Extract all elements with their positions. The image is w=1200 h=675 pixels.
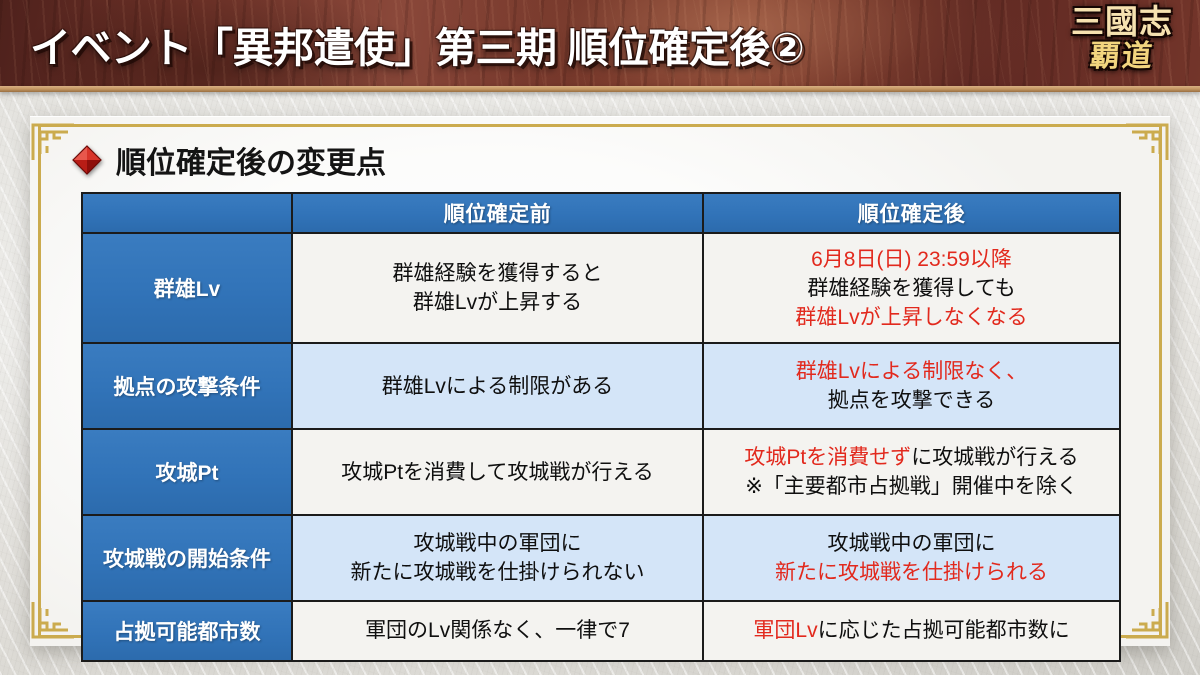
page-title: イベント「異邦遣使」第三期 順位確定後② bbox=[30, 14, 804, 74]
cell-before: 攻城戦中の軍団に 新たに攻城戦を仕掛けられない bbox=[292, 515, 703, 601]
table-row: 群雄Lv 群雄経験を獲得すると 群雄Lvが上昇する 6月8日(日) 23:59以… bbox=[82, 233, 1120, 343]
cell-line: 群雄Lvによる制限なく、 bbox=[712, 357, 1111, 386]
row-label: 攻城戦の開始条件 bbox=[83, 543, 291, 573]
header-cell-before: 順位確定前 bbox=[292, 193, 703, 233]
header-cell-blank bbox=[82, 193, 292, 233]
game-logo-line2: 覇道 bbox=[1055, 40, 1190, 73]
table-header-row: 順位確定前 順位確定後 bbox=[82, 193, 1120, 233]
cell-line: 攻城戦中の軍団に bbox=[712, 529, 1111, 558]
header-cell-after: 順位確定後 bbox=[703, 193, 1120, 233]
cell-line: 群雄経験を獲得しても bbox=[712, 274, 1111, 303]
cell-after: 攻城Ptを消費せずに攻城戦が行える ※「主要都市占拠戦」開催中を除く bbox=[703, 429, 1120, 515]
row-label-cell: 拠点の攻撃条件 bbox=[82, 343, 292, 429]
cell-line: 6月8日(日) 23:59以降 bbox=[712, 245, 1111, 274]
cell-after: 攻城戦中の軍団に 新たに攻城戦を仕掛けられる bbox=[703, 515, 1120, 601]
game-logo-line1: 三國志 bbox=[1056, 4, 1188, 40]
header-label-before: 順位確定前 bbox=[293, 198, 702, 228]
row-label-cell: 占拠可能都市数 bbox=[82, 601, 292, 661]
header-label-after: 順位確定後 bbox=[704, 198, 1119, 228]
row-label-cell: 攻城戦の開始条件 bbox=[82, 515, 292, 601]
cell-after: 6月8日(日) 23:59以降 群雄経験を獲得しても 群雄Lvが上昇しなくなる bbox=[703, 233, 1120, 343]
cell-line: 群雄Lvによる制限がある bbox=[301, 372, 694, 401]
cell-line: 新たに攻城戦を仕掛けられる bbox=[712, 558, 1111, 587]
row-label-cell: 攻城Pt bbox=[82, 429, 292, 515]
cell-line-highlight: 攻城Ptを消費せず bbox=[744, 446, 911, 469]
title-banner: イベント「異邦遣使」第三期 順位確定後② bbox=[0, 0, 1200, 92]
cell-before: 群雄経験を獲得すると 群雄Lvが上昇する bbox=[292, 233, 703, 343]
cell-line: 群雄Lvが上昇しなくなる bbox=[712, 303, 1111, 332]
cell-line: ※「主要都市占拠戦」開催中を除く bbox=[712, 472, 1111, 501]
cell-before: 群雄Lvによる制限がある bbox=[292, 343, 703, 429]
row-label: 群雄Lv bbox=[83, 273, 291, 303]
row-label-cell: 群雄Lv bbox=[82, 233, 292, 343]
table-body: 群雄Lv 群雄経験を獲得すると 群雄Lvが上昇する 6月8日(日) 23:59以… bbox=[82, 233, 1120, 661]
cell-line: 攻城Ptを消費せずに攻城戦が行える bbox=[712, 443, 1111, 472]
cell-line-tail: に応じた占拠可能都市数に bbox=[818, 619, 1070, 642]
table-row: 攻城Pt 攻城Ptを消費して攻城戦が行える 攻城Ptを消費せずに攻城戦が行える … bbox=[82, 429, 1120, 515]
section-title: 順位確定後の変更点 bbox=[116, 138, 386, 182]
cell-after: 軍団Lvに応じた占拠可能都市数に bbox=[703, 601, 1120, 661]
table-row: 拠点の攻撃条件 群雄Lvによる制限がある 群雄Lvによる制限なく、 拠点を攻撃で… bbox=[82, 343, 1120, 429]
cell-line: 群雄経験を獲得すると bbox=[301, 259, 694, 288]
cell-line: 軍団Lvに応じた占拠可能都市数に bbox=[712, 617, 1111, 645]
cell-line: 攻城戦中の軍団に bbox=[301, 529, 694, 558]
row-label: 攻城Pt bbox=[83, 457, 291, 487]
cell-before: 軍団のLv関係なく、一律で7 bbox=[292, 601, 703, 661]
cell-line-highlight: 軍団Lv bbox=[753, 619, 817, 642]
cell-line-tail: に攻城戦が行える bbox=[911, 446, 1078, 469]
section-heading: 順位確定後の変更点 bbox=[72, 138, 386, 182]
cell-line: 拠点を攻撃できる bbox=[712, 386, 1111, 415]
cell-line: 攻城Ptを消費して攻城戦が行える bbox=[301, 458, 694, 487]
cell-after: 群雄Lvによる制限なく、 拠点を攻撃できる bbox=[703, 343, 1120, 429]
game-logo: 三國志 覇道 bbox=[1056, 4, 1188, 102]
table-row: 占拠可能都市数 軍団のLv関係なく、一律で7 軍団Lvに応じた占拠可能都市数に bbox=[82, 601, 1120, 661]
changes-table: 順位確定前 順位確定後 群雄Lv 群雄経験を獲得すると 群雄Lvが上昇する 6月… bbox=[81, 192, 1121, 662]
table-row: 攻城戦の開始条件 攻城戦中の軍団に 新たに攻城戦を仕掛けられない 攻城戦中の軍団… bbox=[82, 515, 1120, 601]
slide-root: イベント「異邦遣使」第三期 順位確定後② 三國志 覇道 bbox=[0, 0, 1200, 675]
row-label: 拠点の攻撃条件 bbox=[83, 371, 291, 401]
cell-line: 群雄Lvが上昇する bbox=[301, 288, 694, 317]
cell-line: 新たに攻城戦を仕掛けられない bbox=[301, 558, 694, 587]
banner-divider bbox=[0, 86, 1200, 92]
red-diamond-icon bbox=[72, 145, 102, 175]
cell-before: 攻城Ptを消費して攻城戦が行える bbox=[292, 429, 703, 515]
cell-line: 軍団のLv関係なく、一律で7 bbox=[301, 617, 694, 645]
row-label: 占拠可能都市数 bbox=[83, 616, 291, 646]
